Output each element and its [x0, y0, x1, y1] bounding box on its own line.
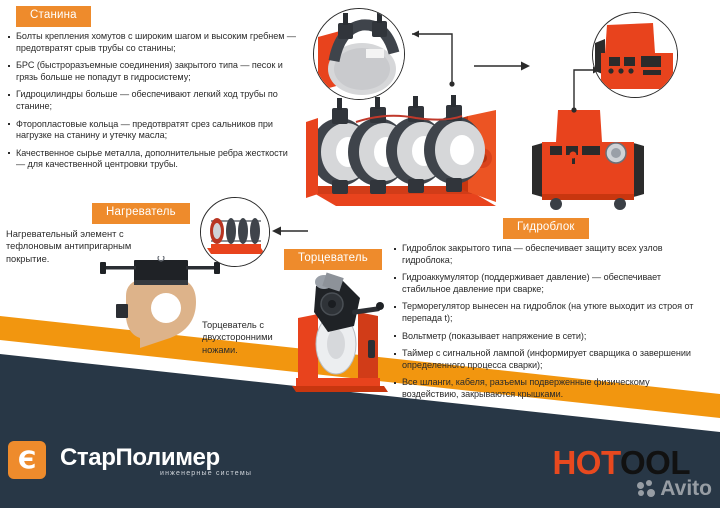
facer-side-handle: [368, 340, 375, 358]
list-item: Гидроаккумулятор (поддерживает давление)…: [394, 272, 708, 295]
hydroblock-bullet-list: Гидроблок закрытого типа — обеспечивает …: [394, 243, 708, 401]
detail-body: [601, 75, 673, 89]
hotool-logo-ool: OOL: [620, 444, 690, 481]
starpolymer-logo-mark: Є: [8, 441, 46, 479]
badge-facer: Торцеватель: [284, 249, 382, 270]
callout-circle-hydroblock-detail: [592, 12, 678, 98]
list-item: Вольтметр (показывает напряжение в сети)…: [394, 331, 708, 343]
panel-switch-1: [550, 146, 562, 155]
detail-label-strip: [366, 49, 384, 58]
mini-disc-2: [226, 218, 236, 244]
badge-heater: Нагреватель: [92, 203, 190, 224]
heater-plate-bore: [151, 293, 181, 323]
heater-description: Нагревательный элемент с тефлоновым анти…: [6, 228, 146, 265]
heater-rod-right: [186, 266, 218, 270]
detail-switch-2: [624, 57, 635, 66]
list-item: БРС (быстроразъемные соединения) закрыто…: [8, 60, 298, 83]
detail-bolt-right: [372, 21, 387, 37]
list-item: Терморегулятор вынесен на гидроблок (на …: [394, 301, 708, 324]
avito-dots-icon: [637, 480, 657, 498]
arrow-to-clamp-callout: [398, 26, 458, 88]
facer-description: Торцеватель с двухсторонними ножами.: [202, 319, 294, 356]
badge-frame: Станина: [16, 6, 91, 27]
detail-switch-1: [609, 57, 620, 66]
list-item: Болты крепления хомутов с широким шагом …: [8, 31, 298, 54]
list-item: Гидроцилиндры больше — обеспечивают легк…: [8, 89, 298, 112]
list-item: Таймер с сигнальной лампой (информирует …: [394, 348, 708, 371]
arrow-machine-to-hydroblock: [472, 56, 532, 76]
facer-stand-left: [298, 314, 318, 386]
hydroblock-lid: [556, 110, 602, 142]
hotool-logo-hot: HOT: [552, 444, 620, 481]
mini-disc-4: [250, 218, 260, 244]
heater-side-clamp: [116, 304, 128, 318]
starpolymer-brand-name: СтарПолимер: [60, 444, 220, 472]
callout-circle-heater-detail: [200, 197, 270, 267]
badge-hydroblock: Гидроблок: [503, 218, 589, 239]
list-item: Качественное сырье металла, дополнительн…: [8, 148, 298, 171]
avito-watermark-text: Avito: [660, 478, 712, 499]
machine-left-upright: [306, 118, 318, 198]
starpolymer-tagline: инженерные системы: [160, 470, 252, 477]
logo-e-glyph: Є: [18, 448, 36, 473]
facer-stand-foot: [292, 386, 388, 392]
hydroblock-illustration: [528, 108, 648, 213]
footer-band: Є СтарПолимер инженерные системы HOTOOL …: [0, 408, 720, 508]
heater-housing-base: [134, 280, 188, 285]
mini-disc-3: [238, 218, 248, 244]
heater-rod-left: [104, 266, 136, 270]
panel-display: [582, 146, 600, 155]
callout-circle-clamp-detail: [313, 8, 405, 100]
wheel-right: [614, 198, 626, 210]
arrow-to-hydroblock-callout: [556, 58, 604, 114]
mini-base: [207, 248, 265, 254]
detail-lid: [605, 23, 655, 53]
frame-bullet-list: Болты крепления хомутов с широким шагом …: [8, 31, 298, 171]
wheel-left: [550, 198, 562, 210]
detail-bolt-left: [338, 23, 353, 39]
list-item: Гидроблок закрытого типа — обеспечивает …: [394, 243, 708, 266]
facer-stand-base: [296, 378, 380, 386]
welding-machine-illustration: [296, 88, 516, 218]
detail-display: [641, 56, 661, 67]
avito-watermark: Avito: [637, 478, 712, 499]
arrow-to-heater-callout: [268, 222, 310, 240]
poster-canvas: Станина Болты крепления хомутов с широки…: [0, 0, 720, 508]
list-item: Все шланги, кабеля, разъемы подверженные…: [394, 377, 708, 400]
list-item: Фторопластовые кольца — предотвратят сре…: [8, 119, 298, 142]
machine-base-frame: [312, 192, 496, 206]
facer-illustration: [288, 272, 398, 392]
